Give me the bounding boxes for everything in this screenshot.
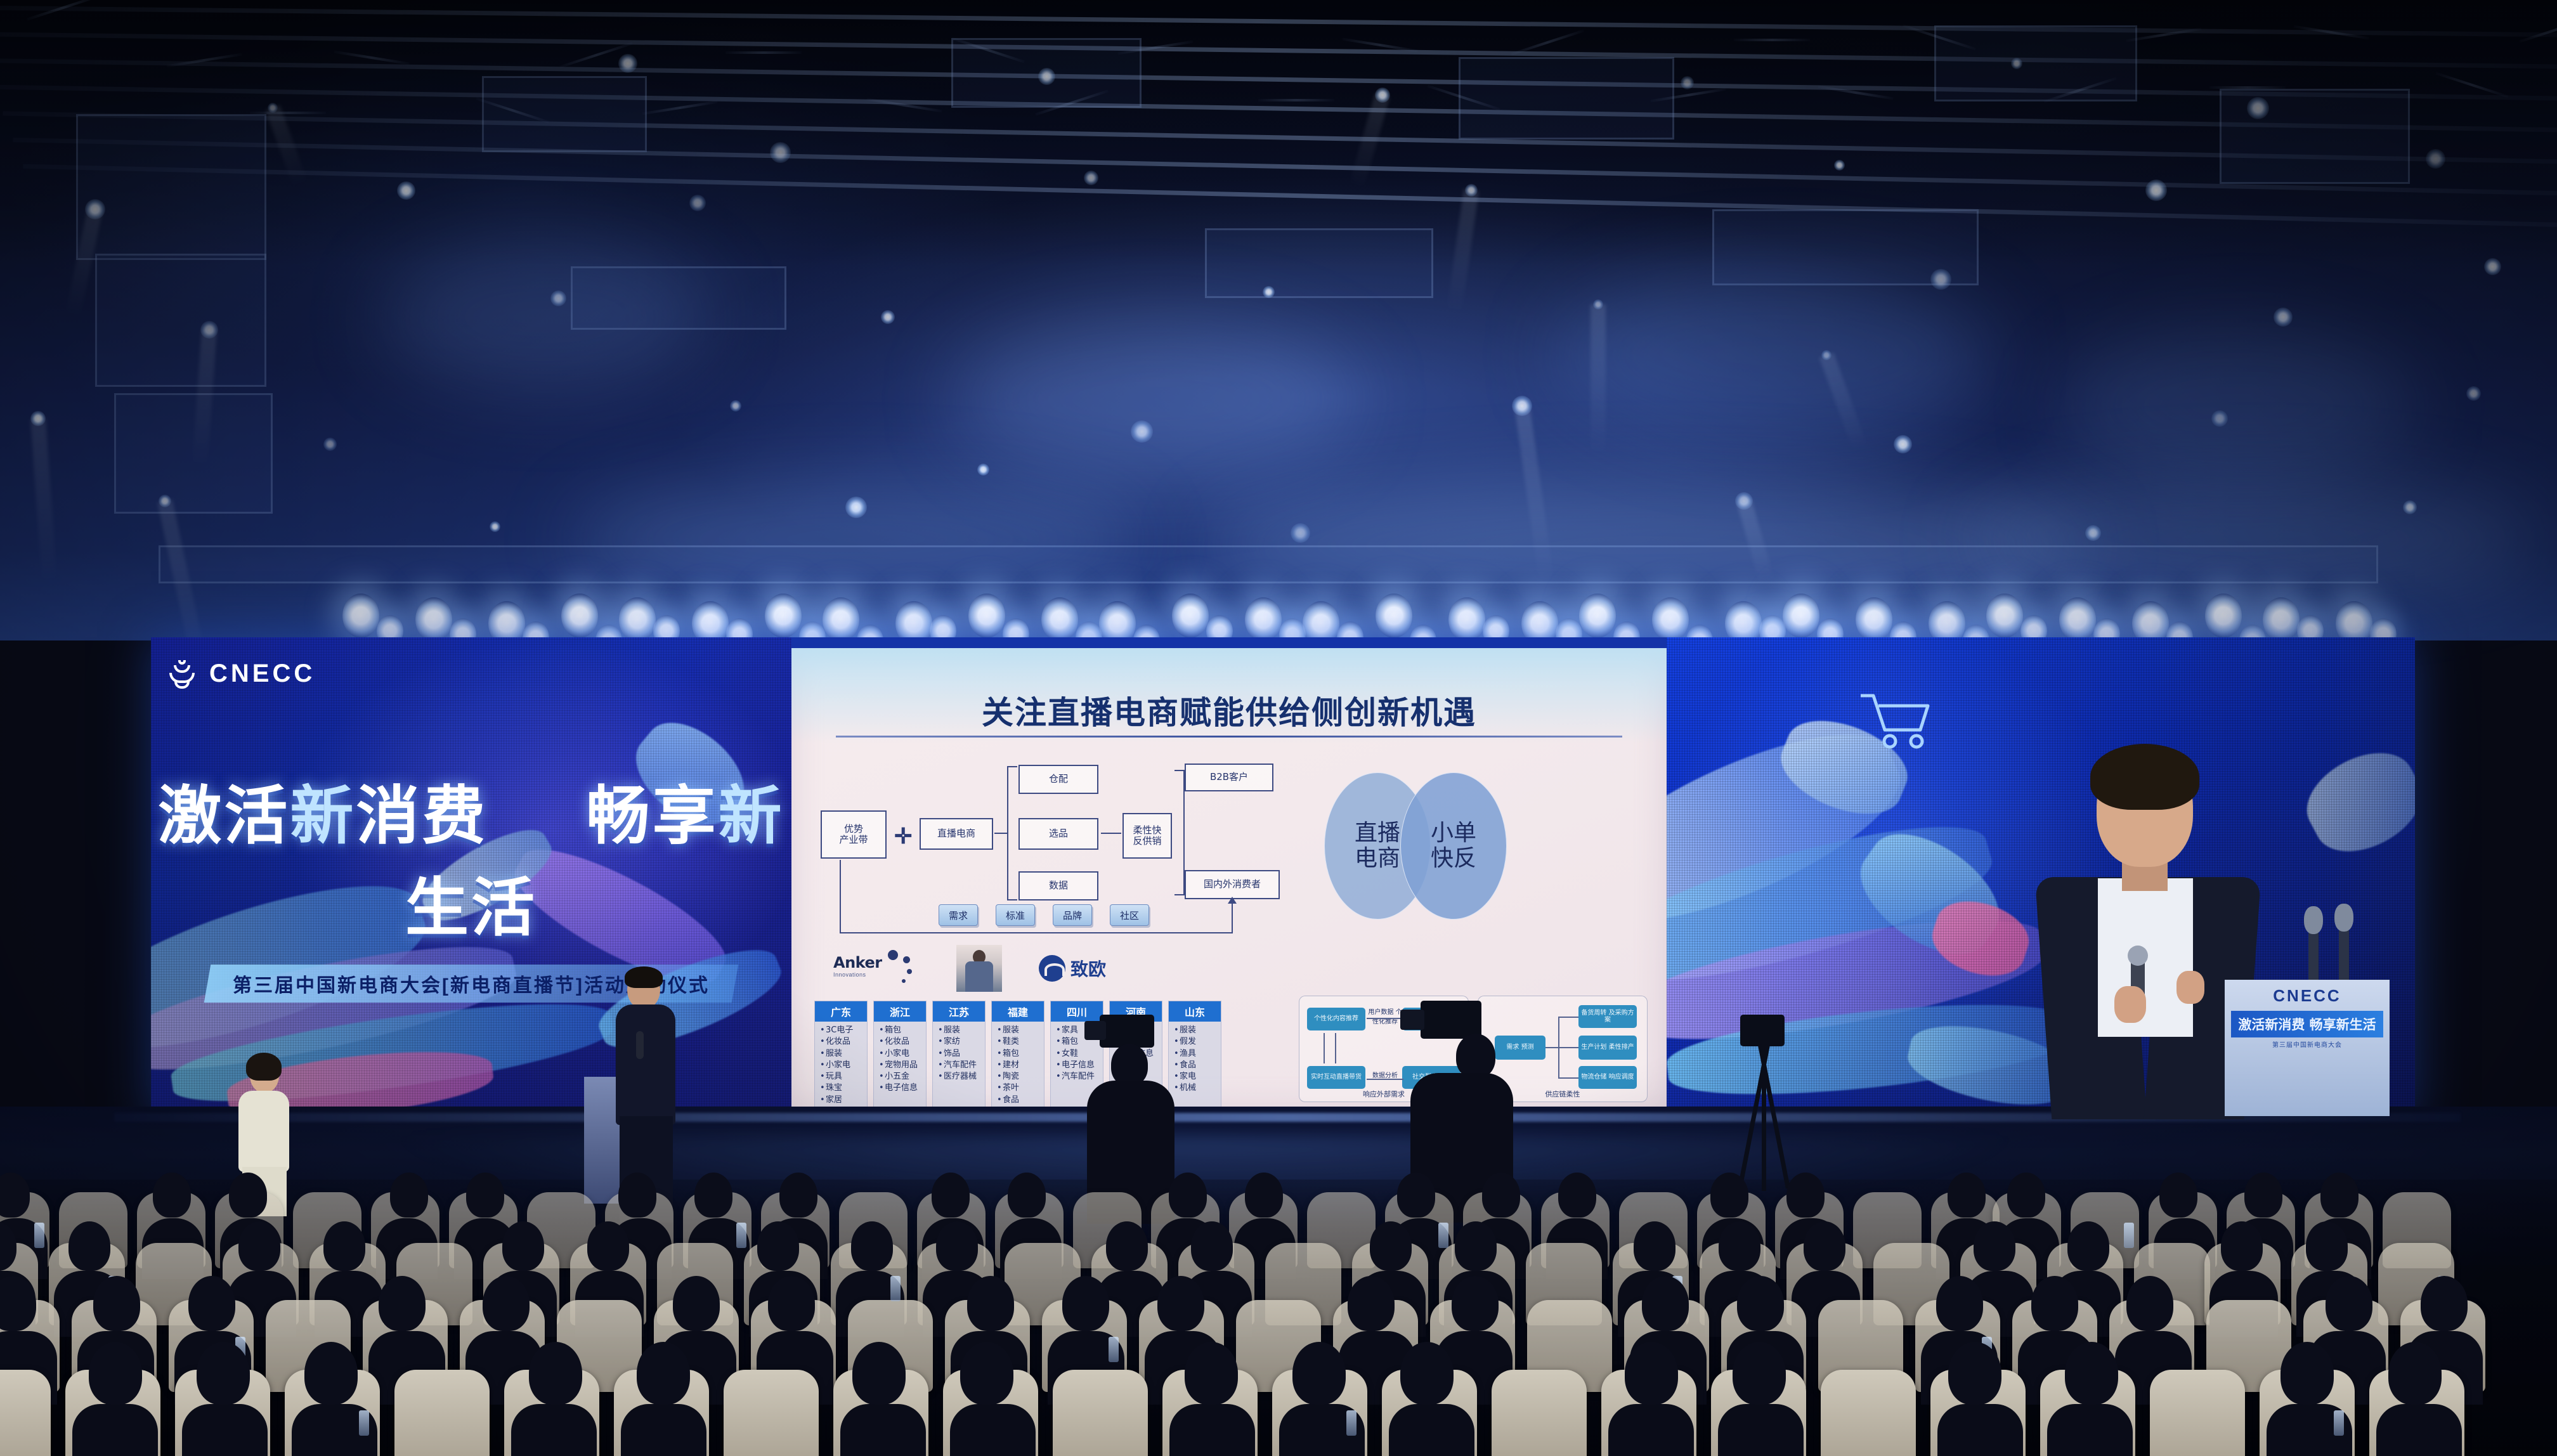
stage-spotlight xyxy=(619,597,656,642)
ribbon-shape xyxy=(1667,801,2003,1007)
audience-member-head xyxy=(768,1276,815,1331)
podium-slogan-band: 激活新消费 畅享新生活 xyxy=(2231,1011,2383,1037)
sd-box-production: 生产计划 柔性排产 xyxy=(1578,1036,1637,1060)
rig-light xyxy=(397,181,415,200)
rig-light xyxy=(2484,258,2501,275)
stage-spotlight xyxy=(1652,597,1689,642)
province-item: 茶叶 xyxy=(997,1083,1041,1093)
loop-arrow-icon xyxy=(1228,897,1237,904)
province-item: 化妆品 xyxy=(820,1037,864,1047)
chip-community: 社区 xyxy=(1110,904,1149,926)
truss-box xyxy=(1934,25,2137,101)
audience-member-head xyxy=(197,1342,250,1405)
audience-member-head xyxy=(1936,1276,1983,1331)
rig-light xyxy=(2466,386,2481,401)
audience-member-head xyxy=(1185,1342,1238,1405)
province-column-浙江: 浙江箱包化妆品小家电宠物用品小五金电子信息 xyxy=(873,1001,927,1110)
flow-box-consumers: 国内外消费者 xyxy=(1185,870,1280,899)
province-item-list: 3C电子化妆品服装小家电玩具珠宝家居 xyxy=(815,1022,867,1110)
podium-cnecc-logo: CNECC xyxy=(2225,986,2390,1006)
audience-member-head xyxy=(1397,1173,1435,1218)
audience-member-head xyxy=(1292,1342,1346,1405)
rig-light xyxy=(2145,179,2167,201)
province-item: 建材 xyxy=(997,1060,1041,1070)
flow-box-data: 数据 xyxy=(1018,871,1098,900)
anker-logo-subtext: Innovations xyxy=(833,972,882,978)
event-slogan: 激活新消费 畅享新生活 xyxy=(151,764,791,948)
mic-capsule-1 xyxy=(2304,906,2323,934)
rig-light xyxy=(1681,76,1694,89)
stage-spotlight xyxy=(1448,597,1485,642)
audience-member-head xyxy=(2007,1173,2045,1218)
audience-member-head xyxy=(960,1342,1013,1405)
audience-member-head xyxy=(1737,1276,1784,1331)
stage-spotlight xyxy=(2205,594,2242,638)
speaker-mic-onstage xyxy=(636,1031,644,1059)
audience-member-head xyxy=(2244,1173,2282,1218)
audience-member-head xyxy=(1948,1173,1986,1218)
haze-blob xyxy=(1966,482,2537,596)
flow-plus-icon: ✛ xyxy=(894,826,913,847)
audience-member-head xyxy=(932,1173,970,1218)
fashion-model-photo xyxy=(956,945,1002,992)
rig-light xyxy=(2247,97,2269,119)
province-item: 玩具 xyxy=(820,1072,864,1082)
province-item: 箱包 xyxy=(997,1049,1041,1059)
stage-spotlight xyxy=(415,597,452,642)
audience-member-head xyxy=(188,1276,235,1331)
audience-member-head xyxy=(1719,1221,1760,1271)
audience-member-head xyxy=(1786,1173,1825,1218)
rig-light xyxy=(2011,58,2022,69)
sd-box-inventory: 备货周转 及采购方案 xyxy=(1578,1005,1637,1028)
flow-diagram: 优势产业带 ✛ 直播电商 仓配 选品 数据 柔性快反供销 B2B客户 国内外消费… xyxy=(814,757,1284,947)
province-item: 服装 xyxy=(997,1025,1041,1036)
audience-member-head xyxy=(529,1342,582,1405)
province-column-江苏: 江苏服装家纺饰品汽车配件医疗器械 xyxy=(932,1001,986,1110)
audience-member-head xyxy=(1804,1221,1845,1271)
province-item: 电子信息 xyxy=(879,1083,923,1093)
audience-member-head xyxy=(1191,1221,1233,1271)
audience-member-head xyxy=(379,1276,426,1331)
cnecc-logo-text: CNECC xyxy=(209,660,315,688)
province-item: 鞋类 xyxy=(997,1037,1041,1047)
truss-box xyxy=(482,76,647,152)
audience-member-head xyxy=(1733,1342,1786,1405)
province-item: 假发 xyxy=(1174,1037,1218,1047)
audience-member-shoulders xyxy=(511,1404,597,1456)
anker-logo: Anker Innovations xyxy=(833,954,882,978)
audience-member-head xyxy=(1169,1173,1207,1218)
brand-logo-strip: Anker Innovations 致欧 xyxy=(830,945,1235,992)
truss-strut xyxy=(725,51,802,54)
audience-member-head xyxy=(153,1173,191,1218)
audience-member-head xyxy=(1974,1221,2015,1271)
truss-strut xyxy=(250,112,326,114)
province-header: 福建 xyxy=(992,1001,1044,1022)
audience-member-head xyxy=(1455,1221,1497,1271)
flow-connector-1 xyxy=(994,833,1008,834)
audience-member-head xyxy=(1008,1173,1046,1218)
audience-member-head xyxy=(2067,1221,2109,1271)
stage-spotlight xyxy=(2059,597,2096,642)
sd-box-logistics: 物流仓储 响应调度 xyxy=(1578,1066,1637,1089)
province-item: 服装 xyxy=(938,1025,982,1036)
rig-light xyxy=(1894,435,1912,453)
conference-stage-photo: CNECC 激活新消费 畅享新生活 第三届中国新电商大会[新电商直播节]活动启动… xyxy=(0,0,2557,1456)
stage-spotlight xyxy=(2263,597,2300,642)
audience-member-head xyxy=(851,1221,893,1271)
flow-box-b2b: B2B客户 xyxy=(1185,764,1273,791)
sd-line-bottom xyxy=(1558,1077,1578,1079)
audience-member-head xyxy=(1625,1342,1678,1405)
audience-member-head xyxy=(1948,1342,2001,1405)
audience-chair xyxy=(1821,1370,1916,1456)
operator-head-right xyxy=(1456,1034,1495,1078)
audience-member-head xyxy=(502,1221,544,1271)
audience-chair xyxy=(2150,1370,2245,1456)
audience-member-head xyxy=(1558,1173,1596,1218)
rig-light xyxy=(881,310,895,324)
province-item-list: 服装鞋类箱包建材陶瓷茶叶食品 xyxy=(992,1022,1044,1110)
stage-spotlight xyxy=(823,597,859,642)
led-panel-left: CNECC 激活新消费 畅享新生活 第三届中国新电商大会[新电商直播节]活动启动… xyxy=(151,637,791,1119)
truss-box xyxy=(1205,228,1433,298)
audience-member-head xyxy=(483,1276,530,1331)
audience-member-shoulders xyxy=(182,1404,268,1456)
audience-member-head xyxy=(390,1173,428,1218)
audience-member-head xyxy=(1245,1173,1283,1218)
ribbon-shape xyxy=(2293,736,2415,868)
water-bottle xyxy=(34,1223,44,1248)
province-item: 3C电子 xyxy=(820,1025,864,1036)
staff-hair xyxy=(246,1053,282,1081)
audience-member-head xyxy=(637,1342,690,1405)
audience-chair xyxy=(0,1370,51,1456)
province-header: 广东 xyxy=(815,1001,867,1022)
province-item: 家居 xyxy=(820,1095,864,1105)
stage-spotlight xyxy=(342,594,379,638)
ziel-mark-icon xyxy=(1039,955,1065,982)
audience-member-head xyxy=(1710,1173,1748,1218)
audience-member-shoulders xyxy=(950,1404,1036,1456)
sd-box-personalized: 个性化内容推荐 xyxy=(1307,1008,1365,1030)
camera-lens-right xyxy=(1400,1010,1424,1030)
audience-member-head xyxy=(2320,1173,2359,1218)
province-item: 箱包 xyxy=(879,1025,923,1036)
rig-light xyxy=(1084,171,1098,185)
audience-chair xyxy=(394,1370,490,1456)
speaker-suit-onstage xyxy=(616,1004,675,1125)
province-column-福建: 福建服装鞋类箱包建材陶瓷茶叶食品 xyxy=(991,1001,1044,1110)
audience-chair xyxy=(1053,1370,1148,1456)
audience-member-head xyxy=(1348,1276,1395,1331)
province-item: 食品 xyxy=(997,1095,1041,1105)
audience-member-head xyxy=(304,1342,358,1405)
audience-member-head xyxy=(238,1221,280,1271)
province-item: 服装 xyxy=(1174,1025,1218,1036)
audience-member-shoulders xyxy=(2376,1404,2462,1456)
water-bottle xyxy=(359,1410,369,1436)
audience-member-head xyxy=(2031,1276,2078,1331)
audience-member-head xyxy=(2126,1276,2173,1331)
province-item: 食品 xyxy=(1174,1060,1218,1070)
haze-blob xyxy=(951,317,1357,482)
stage-spotlight xyxy=(1986,594,2023,638)
sd-line-top xyxy=(1558,1017,1578,1018)
venn-diagram: 直播电商 小单快反 xyxy=(1324,772,1521,931)
province-header: 江苏 xyxy=(933,1001,985,1022)
model-body xyxy=(965,961,993,992)
chip-brand: 品牌 xyxy=(1053,904,1092,926)
rig-light xyxy=(1930,269,1951,290)
camera-body-right xyxy=(1421,1001,1481,1039)
province-item-list: 箱包化妆品小家电宠物用品小五金电子信息 xyxy=(874,1022,926,1100)
audience-member-head xyxy=(757,1221,799,1271)
rig-light xyxy=(730,400,741,412)
ziel-logo-text: 致欧 xyxy=(1070,956,1106,981)
rig-light xyxy=(770,142,791,163)
rig-light xyxy=(323,438,337,451)
water-bottle xyxy=(1109,1337,1119,1362)
truss-strut xyxy=(2209,86,2286,89)
rig-light xyxy=(2274,308,2293,327)
audience-member-head xyxy=(936,1221,978,1271)
loop-line-up xyxy=(1232,903,1233,933)
audience-member-head xyxy=(2421,1276,2468,1331)
audience-member-head xyxy=(1482,1173,1520,1218)
audience-member-head xyxy=(779,1173,817,1218)
province-item: 家纺 xyxy=(938,1037,982,1047)
audience-chair xyxy=(1492,1370,1587,1456)
audience-member-head xyxy=(323,1221,365,1271)
audience-member-head xyxy=(2159,1173,2197,1218)
stage-spotlight xyxy=(968,594,1005,638)
stage-spotlight xyxy=(1245,597,1282,642)
stage-spotlight xyxy=(561,594,598,638)
province-item: 小五金 xyxy=(879,1072,923,1082)
stage-spotlight xyxy=(1783,594,1819,638)
audience-member-head xyxy=(852,1342,906,1405)
rig-light xyxy=(1834,160,1845,171)
audience-member-shoulders xyxy=(1718,1404,1804,1456)
audience-member-head xyxy=(2326,1276,2372,1331)
province-item: 珠宝 xyxy=(820,1083,864,1093)
venn-circle-smallbatch: 小单快反 xyxy=(1400,772,1507,920)
stage-spotlight xyxy=(1856,597,1892,642)
province-item: 饰品 xyxy=(938,1049,982,1059)
province-item: 汽车配件 xyxy=(938,1060,982,1070)
audience-member-head xyxy=(673,1276,720,1331)
speaker-hair xyxy=(2090,744,2199,810)
audience-member-shoulders xyxy=(2047,1404,2133,1456)
stage-spotlight xyxy=(1172,594,1209,638)
province-item: 小家电 xyxy=(820,1060,864,1070)
flow-box-warehouse: 仓配 xyxy=(1018,765,1098,794)
shopping-cart-icon xyxy=(1857,689,1933,753)
stage-spotlight xyxy=(1579,594,1616,638)
province-item: 宠物用品 xyxy=(879,1060,923,1070)
rig-light xyxy=(618,54,637,73)
ribbon-shape xyxy=(1843,814,2017,975)
stage-spotlight xyxy=(765,594,802,638)
rig-light xyxy=(1263,286,1275,298)
chip-standard: 标准 xyxy=(996,904,1035,926)
province-item: 服装 xyxy=(820,1049,864,1059)
audience-member-head xyxy=(68,1221,110,1271)
audience-member-head xyxy=(694,1173,732,1218)
truss-box xyxy=(76,114,266,260)
truss-strut xyxy=(1258,99,1334,101)
operator-head-left xyxy=(1111,1044,1148,1086)
province-item: 机械 xyxy=(1174,1083,1218,1093)
audience-member-shoulders xyxy=(72,1404,158,1456)
audience-member-head xyxy=(93,1276,140,1331)
haze-blob xyxy=(571,482,1142,596)
anker-logo-text: Anker xyxy=(833,954,882,972)
water-bottle xyxy=(1438,1223,1448,1248)
rig-light xyxy=(977,464,989,476)
ziel-home-logo: 致欧 xyxy=(1039,955,1106,982)
audience-member-head xyxy=(2280,1342,2334,1405)
speaker-hand-left xyxy=(2114,986,2146,1023)
truss-strut xyxy=(1734,39,1810,41)
rig-light xyxy=(490,521,500,532)
audience-member-head xyxy=(2306,1221,2348,1271)
audience-member-head xyxy=(1400,1342,1454,1405)
province-item: 陶瓷 xyxy=(997,1072,1041,1082)
flow-box-flex-supply: 柔性快反供销 xyxy=(1122,813,1172,859)
presentation-slide: 关注直播电商赋能供给侧创新机遇 优势产业带 ✛ 直播电商 仓配 选品 数据 柔性… xyxy=(791,648,1667,1110)
audience-member-shoulders xyxy=(1608,1404,1694,1456)
flow-box-source: 优势产业带 xyxy=(821,810,887,859)
water-bottle xyxy=(736,1223,746,1248)
audience-member-head xyxy=(466,1173,504,1218)
rig-light xyxy=(1038,68,1055,85)
cnecc-logo: CNECC xyxy=(165,656,315,691)
audience-member-shoulders xyxy=(1389,1404,1474,1456)
flow-bracket-right xyxy=(1174,770,1185,895)
ribbon-shape xyxy=(1925,891,2037,987)
audience-member-head xyxy=(2221,1221,2263,1271)
podium-subtitle: 第三届中国新电商大会 xyxy=(2225,1039,2390,1049)
audience-member-head xyxy=(1157,1276,1204,1331)
mic-capsule-2 xyxy=(2334,904,2353,932)
flow-box-channel: 直播电商 xyxy=(920,818,993,850)
staff-blazer xyxy=(238,1091,289,1172)
rig-light xyxy=(689,195,706,211)
slide-title-divider xyxy=(836,736,1622,738)
haze-blob xyxy=(381,241,710,393)
province-column-广东: 广东3C电子化妆品服装小家电玩具珠宝家居 xyxy=(814,1001,868,1110)
audience-member-head xyxy=(587,1221,629,1271)
camera-lens-left xyxy=(1084,1021,1106,1040)
flow-connector-2 xyxy=(1101,833,1121,834)
slide-title: 关注直播电商赋能供给侧创新机遇 xyxy=(791,687,1667,733)
chip-demand: 需求 xyxy=(939,904,978,926)
audience-member-shoulders xyxy=(840,1404,926,1456)
province-header: 浙江 xyxy=(874,1001,926,1022)
flow-box-selection: 选品 xyxy=(1018,818,1098,850)
loop-line-down xyxy=(840,860,841,933)
province-item: 家电 xyxy=(1174,1072,1218,1082)
sd-line-v1 xyxy=(1324,1033,1325,1063)
audience-member-head xyxy=(1452,1276,1499,1331)
speaker-hair-onstage xyxy=(625,966,663,988)
audience-chair xyxy=(724,1370,819,1456)
speaker-hand-right xyxy=(2176,971,2204,1004)
sd-line-v2 xyxy=(1335,1033,1336,1063)
province-item: 渔具 xyxy=(1174,1049,1218,1059)
audience-member-shoulders xyxy=(1937,1404,2023,1456)
flow-bracket-left xyxy=(1007,766,1017,900)
audience-member-head xyxy=(618,1173,656,1218)
water-bottle xyxy=(2124,1223,2134,1248)
truss-box xyxy=(95,254,266,387)
loop-line-bottom xyxy=(840,932,1233,933)
province-item: 化妆品 xyxy=(879,1037,923,1047)
audience-member-head xyxy=(1634,1221,1675,1271)
audience-member-head xyxy=(89,1342,142,1405)
led-headline-block: 激活新消费 畅享新生活 第三届中国新电商大会[新电商直播节]活动启动仪式 xyxy=(151,764,791,1003)
water-bottle xyxy=(890,1276,901,1301)
audience-member-head xyxy=(2065,1342,2118,1405)
sd-line-mid xyxy=(1545,1047,1578,1048)
tripod-camera-body xyxy=(1740,1015,1785,1046)
stage-spotlight xyxy=(1376,594,1412,638)
audience-member-head xyxy=(1106,1221,1148,1271)
rig-light xyxy=(2426,149,2445,169)
sd-box-livestream: 实时互动直播带货 xyxy=(1307,1066,1365,1089)
water-bottle xyxy=(1346,1410,1357,1436)
haze-blob xyxy=(2061,330,2416,482)
audience-member-head xyxy=(967,1276,1014,1331)
water-bottle xyxy=(2334,1410,2344,1436)
audience-member-head xyxy=(229,1173,267,1218)
stage-spotlight xyxy=(1041,597,1078,642)
province-item-list: 服装家纺饰品汽车配件医疗器械 xyxy=(933,1022,985,1088)
audience-member-head xyxy=(1370,1221,1412,1271)
truss-box xyxy=(1459,57,1674,140)
province-item: 医疗器械 xyxy=(938,1072,982,1082)
camera-body-left xyxy=(1100,1015,1154,1048)
audience-member-head xyxy=(2388,1342,2442,1405)
audience-member-shoulders xyxy=(1169,1404,1255,1456)
haze-blob xyxy=(1554,266,1998,444)
wave-globe-icon xyxy=(165,656,199,691)
province-item: 小家电 xyxy=(879,1049,923,1059)
audience-member-head xyxy=(1062,1276,1109,1331)
audience-member-head xyxy=(1642,1276,1689,1331)
audience-member-shoulders xyxy=(621,1404,706,1456)
podium-on-feed: CNECC 激活新消费 畅享新生活 第三届中国新电商大会 xyxy=(2225,980,2390,1116)
